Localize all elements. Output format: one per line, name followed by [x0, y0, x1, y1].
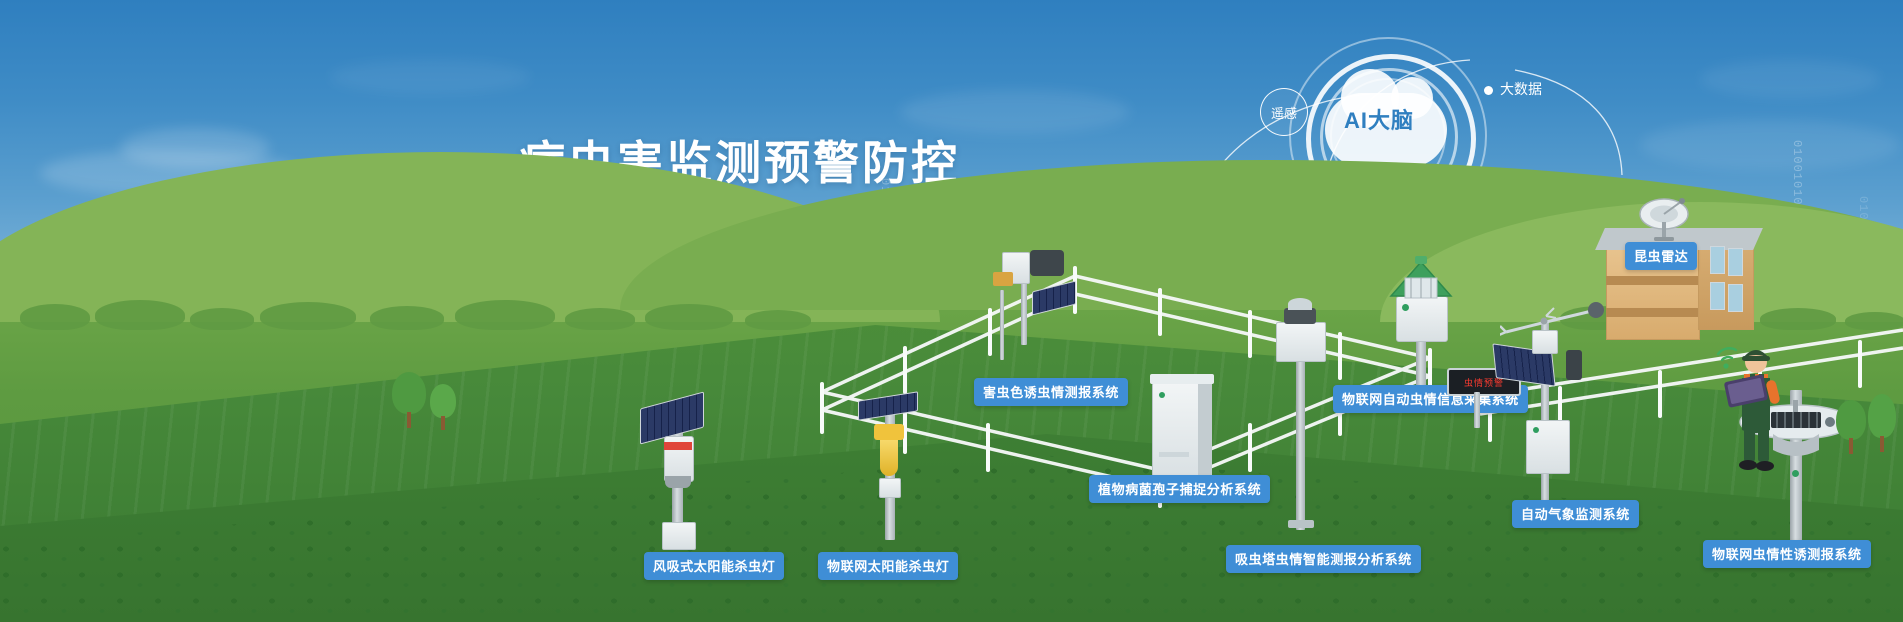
building-window	[1728, 284, 1743, 312]
ai-brain-label: AI大脑	[1344, 103, 1414, 135]
ai-node-big-data-label[interactable]: 大数据	[1500, 79, 1542, 99]
device-vent	[1159, 452, 1189, 457]
status-indicator	[1402, 304, 1409, 311]
tower-funnel	[1288, 298, 1312, 310]
callout-insect-radar[interactable]: 昆虫雷达	[1625, 242, 1697, 270]
tower-head	[1284, 308, 1316, 324]
building-band	[1606, 276, 1698, 285]
lamp-collection-box	[879, 478, 901, 498]
ai-node-remote-sensing-label: 遥感	[1271, 103, 1297, 122]
callout-suction-tower-pest-intelligent-forecast-analysis-system[interactable]: 吸虫塔虫情智能测报分析系统	[1226, 545, 1421, 573]
lamp-base-cabinet	[662, 522, 696, 550]
callout-automatic-weather-monitoring-system[interactable]: 自动气象监测系统	[1512, 500, 1639, 528]
cloud-shape	[120, 128, 270, 168]
lamp-accent-stripe	[664, 442, 692, 450]
weather-sensor-box	[1532, 330, 1558, 354]
status-indicator	[1533, 427, 1539, 433]
lure-card	[993, 272, 1013, 286]
device-pole	[1021, 275, 1027, 345]
callout-plant-pathogen-spore-capture-analysis-system[interactable]: 植物病菌孢子捕捉分析系统	[1089, 475, 1270, 503]
tower-base	[1288, 520, 1314, 528]
cloud-shape	[900, 90, 1130, 134]
ai-node-remote-sensing[interactable]: 遥感	[1260, 88, 1308, 136]
tower-mast	[1296, 342, 1305, 530]
device-cabinet-side	[1198, 376, 1212, 476]
device-canopy-icon	[1385, 252, 1457, 308]
device-cabinet-top	[1150, 374, 1214, 384]
lamp-funnel	[880, 440, 898, 476]
radar-dish-icon	[1632, 196, 1702, 242]
device-ladder	[1000, 290, 1004, 360]
infographic-banner: 01001010110100101 010010101101001011010 …	[0, 0, 1903, 622]
led-display-pole	[1474, 392, 1480, 428]
farmer-icon	[1700, 326, 1810, 476]
callout-iot-solar-insect-lamp[interactable]: 物联网太阳能杀虫灯	[818, 552, 958, 580]
callout-wind-suction-solar-insect-lamp[interactable]: 风吸式太阳能杀虫灯	[644, 552, 784, 580]
status-indicator	[1159, 392, 1165, 398]
device-head	[1030, 250, 1064, 276]
weather-sensors-icon	[1500, 296, 1620, 346]
cloud-shape	[330, 60, 530, 94]
rain-gauge	[1566, 350, 1582, 380]
building-window	[1728, 248, 1743, 276]
lamp-light-head	[874, 424, 904, 440]
lamp-collector	[665, 476, 691, 488]
callout-iot-pest-pheromone-forecast-system[interactable]: 物联网虫情性诱测报系统	[1703, 540, 1871, 568]
building-window	[1710, 282, 1725, 310]
building-window	[1710, 246, 1725, 274]
tower-cabinet	[1276, 322, 1326, 362]
ai-node-big-data-dot	[1484, 86, 1493, 95]
callout-color-lure-pest-forecast-system[interactable]: 害虫色诱虫情测报系统	[974, 378, 1128, 406]
